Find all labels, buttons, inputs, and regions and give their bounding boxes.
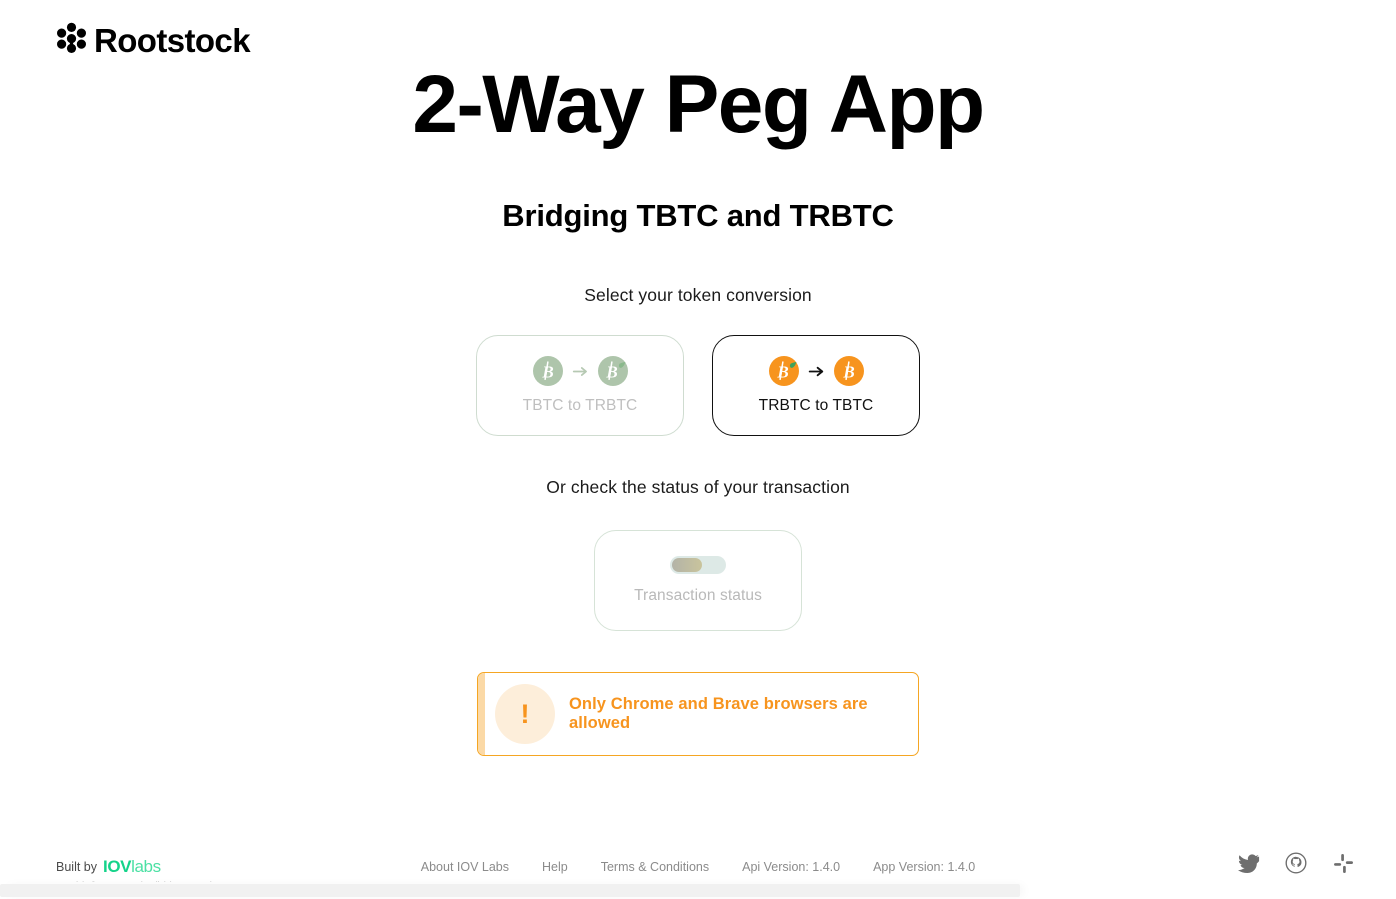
- transaction-status-card: Transaction status: [594, 530, 802, 631]
- arrow-right-icon: [808, 363, 825, 380]
- footer-link-help[interactable]: Help: [542, 860, 568, 874]
- toggle-pill-icon: [670, 556, 726, 574]
- status-section-label: Or check the status of your transaction: [0, 477, 1396, 498]
- conversion-option-tbtc-to-trbtc: B B TBTC to TRBTC: [476, 335, 684, 436]
- github-icon[interactable]: [1283, 850, 1309, 876]
- page-title: 2-Way Peg App: [0, 60, 1396, 150]
- warning-accent-bar: [478, 673, 485, 755]
- brand-logo[interactable]: Rootstock: [56, 22, 250, 58]
- bitcoin-coin-icon: B: [834, 356, 864, 386]
- footer-app-version: App Version: 1.4.0: [873, 860, 975, 874]
- conversion-option-label: TRBTC to TBTC: [759, 397, 874, 415]
- conversion-section-label: Select your token conversion: [0, 285, 1396, 306]
- transaction-status-label: Transaction status: [634, 587, 762, 605]
- horizontal-scrollbar-thumb[interactable]: [0, 884, 1020, 897]
- arrow-right-icon: [572, 363, 589, 380]
- conversion-options: B B TBTC to TRBTC: [0, 335, 1396, 436]
- footer-api-version: Api Version: 1.4.0: [742, 860, 840, 874]
- page-subtitle: Bridging TBTC and TRBTC: [0, 198, 1396, 234]
- rootstock-bitcoin-coin-icon: B: [769, 356, 799, 386]
- footer-link-about-iov-labs[interactable]: About IOV Labs: [421, 860, 509, 874]
- bitcoin-coin-icon: B: [533, 356, 563, 386]
- rootstock-bitcoin-coin-icon: B: [598, 356, 628, 386]
- brand-name: Rootstock: [94, 24, 250, 57]
- footer-link-terms-and-conditions[interactable]: Terms & Conditions: [601, 860, 709, 874]
- rootstock-clover-icon: [56, 22, 87, 58]
- conversion-option-label: TBTC to TRBTC: [523, 397, 638, 415]
- twitter-icon[interactable]: [1236, 850, 1262, 876]
- warning-message: Only Chrome and Brave browsers are allow…: [569, 695, 918, 733]
- exclamation-icon: !: [495, 684, 555, 744]
- slack-icon[interactable]: [1330, 850, 1356, 876]
- browser-warning-banner: ! Only Chrome and Brave browsers are all…: [477, 672, 919, 756]
- conversion-icons: B B: [533, 356, 628, 386]
- conversion-icons: B B: [769, 356, 864, 386]
- conversion-option-trbtc-to-tbtc[interactable]: B B TRBTC to TBTC: [712, 335, 920, 436]
- footer-social-links: [1236, 850, 1356, 876]
- page-root: Rootstock 2-Way Peg App Bridging TBTC an…: [0, 0, 1396, 899]
- horizontal-scrollbar-track[interactable]: [0, 882, 1396, 899]
- footer-links: About IOV Labs Help Terms & Conditions A…: [0, 860, 1396, 874]
- toggle-pill-knob: [672, 558, 702, 572]
